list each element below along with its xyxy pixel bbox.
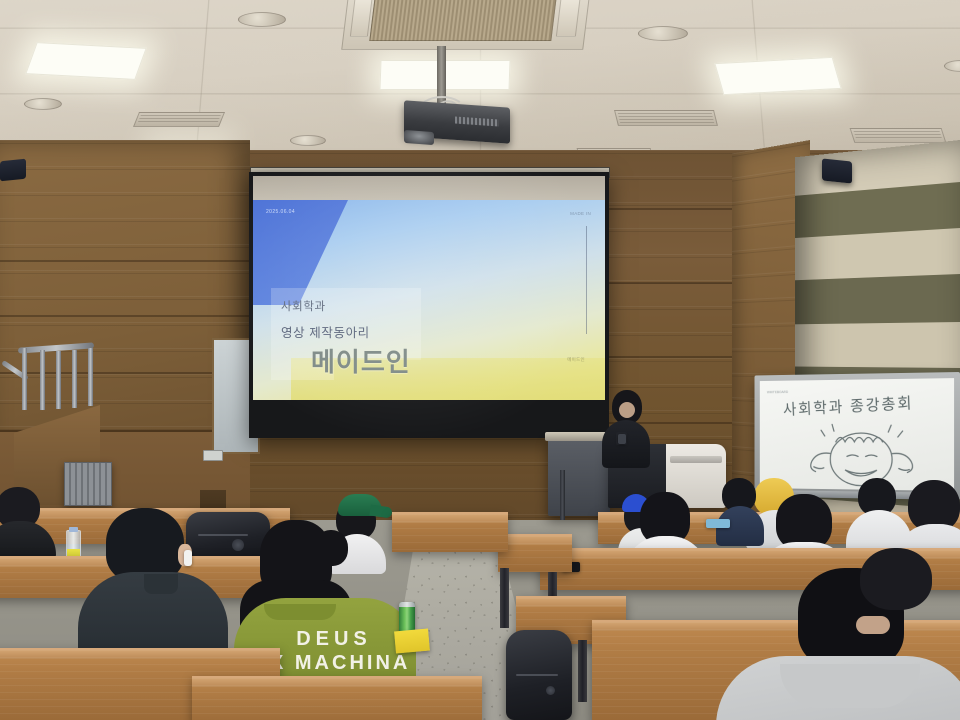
sprinkler-head (638, 26, 688, 41)
bench-center-far (392, 512, 508, 552)
projector-lens (404, 130, 434, 145)
ceiling-vent (614, 110, 718, 126)
whiteboard-doodle-icon (803, 416, 921, 491)
lecture-hall-photo: 2025.06.04 MADE IN 메이드인 사회학과 영상 제작동아리 메이… (0, 0, 960, 720)
ceiling-vent (850, 128, 947, 143)
bench-leg (500, 568, 509, 628)
bench-leg (578, 640, 587, 702)
slide-top-right-label: MADE IN (570, 211, 591, 216)
wall-speaker-left (0, 159, 26, 182)
whiteboard-corner-tag: WHITEBOARD (767, 390, 788, 394)
wall-speaker-right (822, 158, 852, 183)
stair-post (72, 350, 77, 408)
slide-date: 2025.06.04 (266, 209, 295, 215)
stair-post (22, 348, 27, 410)
screen-top-margin (253, 176, 605, 202)
hoodie-hood (780, 664, 920, 708)
slide-subtitle-line-1: 사회학과 (281, 298, 326, 314)
hand-on-bench (856, 616, 890, 634)
slide-vertical-rule (586, 226, 587, 334)
stair-post (56, 351, 61, 409)
shirt-text-line-1: DEUS (274, 628, 394, 651)
radiator (64, 462, 112, 506)
wall-outlet (203, 450, 223, 461)
slide-title: 메이드인 (311, 342, 411, 379)
backpack-on-bench (186, 512, 270, 560)
bench-row-front-left-2 (192, 676, 482, 720)
sprinkler-head (24, 98, 62, 110)
presenter-phone (618, 434, 626, 444)
lectern (548, 438, 610, 516)
snack-bag (394, 629, 430, 654)
podium-post (560, 470, 565, 520)
ceiling-light-panel (25, 42, 147, 80)
notebook-on-desk (706, 519, 730, 528)
ceiling-light-panel (714, 57, 841, 95)
projected-slide: 2025.06.04 MADE IN 메이드인 사회학과 영상 제작동아리 메이… (253, 200, 605, 400)
slide-subtitle-line-2: 영상 제작동아리 (281, 322, 370, 341)
slide-bottom-right-label: 메이드인 (567, 357, 585, 363)
sprinkler-head (290, 135, 326, 146)
stair-post (40, 350, 45, 410)
ceiling-vent (133, 112, 225, 127)
earbud (184, 550, 192, 566)
bench-row-aisle-right-upper (498, 534, 572, 572)
sprinkler-head (238, 12, 286, 27)
backpack-in-aisle (506, 630, 572, 720)
stair-post (88, 348, 93, 406)
air-conditioner-unit (341, 0, 591, 50)
whiteboard-surface: WHITEBOARD 사회학과 종강총회 (760, 378, 954, 491)
whiteboard-heading: 사회학과 종강총회 (783, 390, 914, 420)
